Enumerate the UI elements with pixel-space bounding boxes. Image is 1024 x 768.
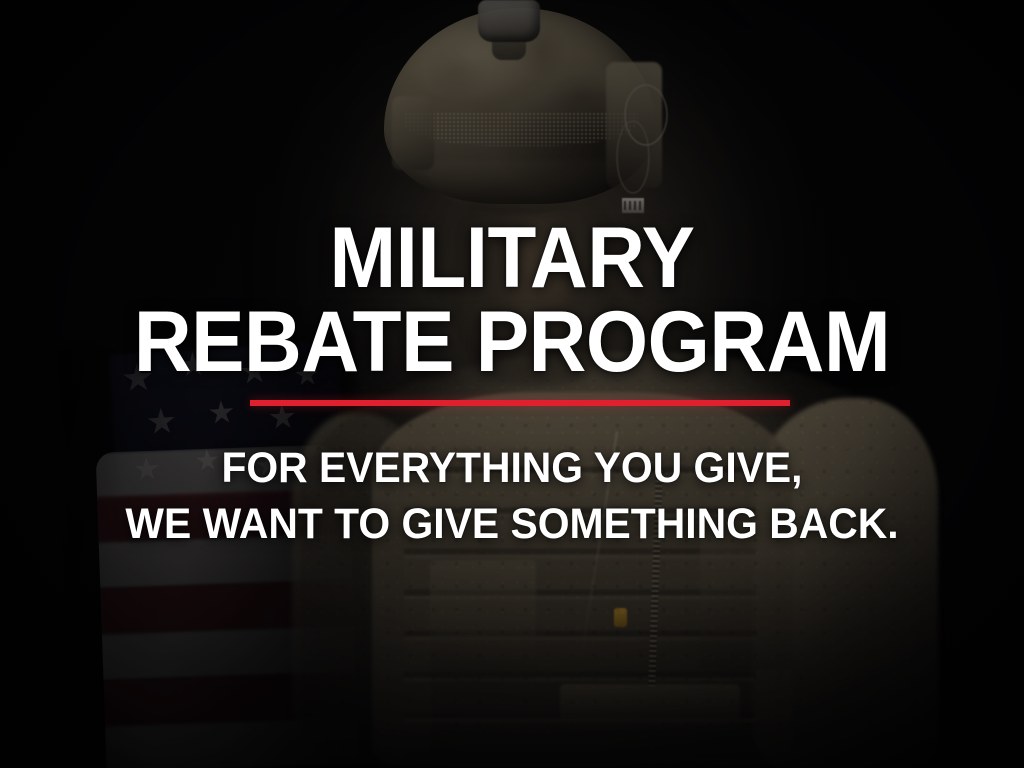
poster-content: MILITARY REBATE PROGRAM FOR EVERYTHING Y… <box>0 0 1024 768</box>
headline-line-1: MILITARY <box>36 216 988 300</box>
military-rebate-poster: MILITARY REBATE PROGRAM FOR EVERYTHING Y… <box>0 0 1024 768</box>
red-rule-divider <box>250 400 790 406</box>
subheadline-line-2: WE WANT TO GIVE SOMETHING BACK. <box>26 503 999 546</box>
subheadline-line-1: FOR EVERYTHING YOU GIVE, <box>26 447 999 490</box>
headline-line-2: REBATE PROGRAM <box>36 300 988 384</box>
